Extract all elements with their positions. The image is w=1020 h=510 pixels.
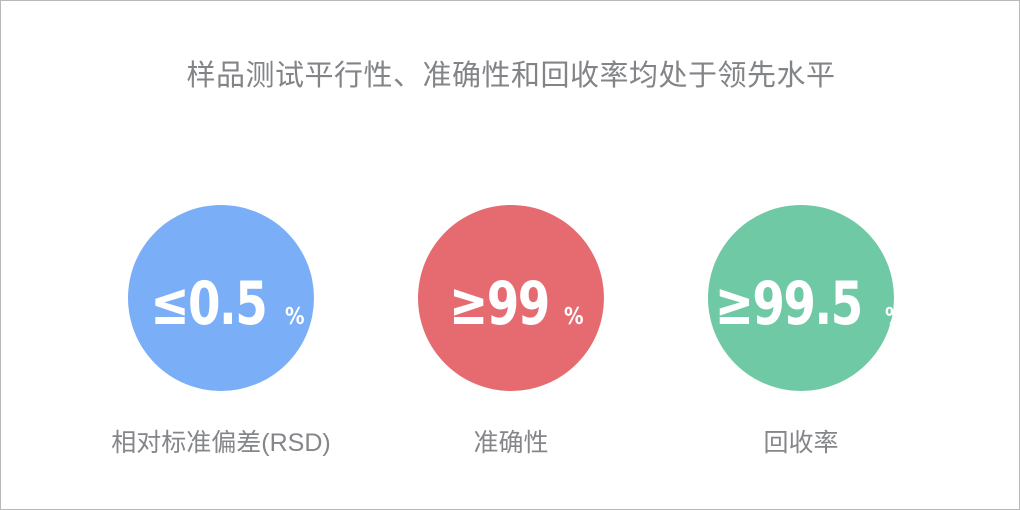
stat-unit-recovery: % — [885, 306, 905, 329]
stat-item-recovery: ≥99.5 % 回收率 — [656, 205, 946, 459]
stat-unit-rsd: % — [285, 306, 305, 329]
stat-item-rsd: ≤0.5 % 相对标准偏差(RSD) — [76, 205, 366, 459]
stat-value-rsd: ≤0.5 — [151, 274, 267, 334]
stat-unit-accuracy: % — [564, 306, 584, 329]
stats-row: ≤0.5 % 相对标准偏差(RSD) ≥99 % 准确性 ≥99.5 % — [1, 205, 1020, 459]
stat-circle-recovery: ≥99.5 % — [708, 205, 894, 391]
stat-label-accuracy: 准确性 — [473, 427, 548, 459]
stat-label-rsd: 相对标准偏差(RSD) — [111, 427, 330, 459]
stat-circle-rsd: ≤0.5 % — [128, 205, 314, 391]
page-title: 样品测试平行性、准确性和回收率均处于领先水平 — [1, 56, 1020, 96]
stat-value-recovery: ≥99.5 — [715, 274, 862, 334]
stat-label-recovery: 回收率 — [763, 427, 838, 459]
stat-circle-accuracy: ≥99 % — [418, 205, 604, 391]
stat-value-wrap-rsd: ≤0.5 % — [134, 274, 308, 334]
stats-infographic: 样品测试平行性、准确性和回收率均处于领先水平 ≤0.5 % 相对标准偏差(RSD… — [0, 0, 1020, 510]
stat-value-accuracy: ≥99 — [449, 274, 549, 334]
stat-value-wrap-accuracy: ≥99 % — [435, 274, 588, 334]
stat-item-accuracy: ≥99 % 准确性 — [366, 205, 656, 459]
stat-value-wrap-recovery: ≥99.5 % — [694, 274, 907, 334]
